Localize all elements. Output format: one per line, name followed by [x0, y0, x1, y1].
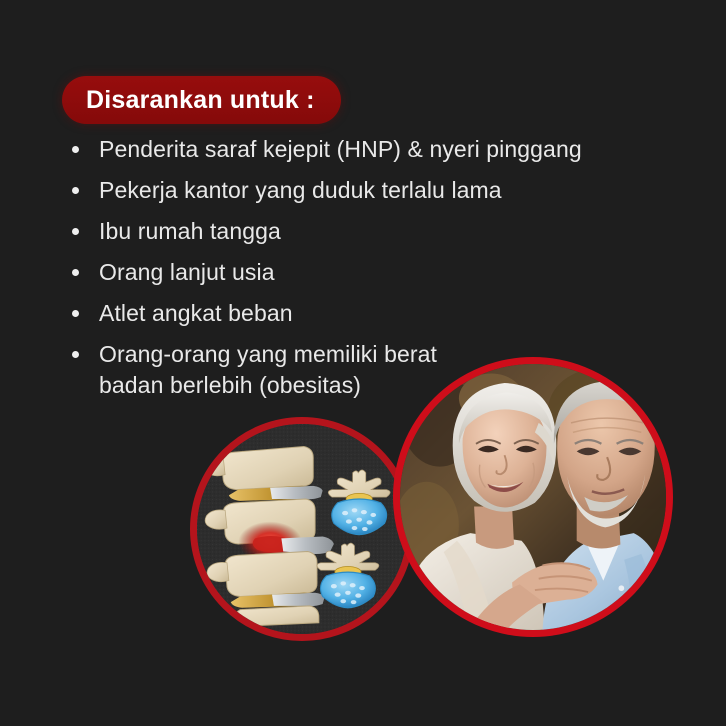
- bullet-dot-icon: [72, 310, 79, 317]
- bullet-dot-icon: [72, 269, 79, 276]
- heading-label: Disarankan untuk :: [86, 88, 315, 113]
- spine-illustration-inner: [197, 424, 407, 634]
- list-item-label: Penderita saraf kejepit (HNP) & nyeri pi…: [99, 134, 582, 165]
- list-item: Atlet angkat beban: [72, 298, 672, 329]
- promo-slide: Disarankan untuk : Penderita saraf kejep…: [0, 0, 726, 726]
- list-item-label: Orang lanjut usia: [99, 257, 275, 288]
- list-item-label: Orang-orang yang memiliki berat badan be…: [99, 339, 437, 401]
- herniated-disc-spine-illustration: [190, 417, 414, 641]
- couple-photo-inner: [400, 364, 666, 630]
- elderly-couple-photo: [393, 357, 673, 637]
- heading-pill: Disarankan untuk :: [62, 76, 341, 124]
- list-item-label: Pekerja kantor yang duduk terlalu lama: [99, 175, 502, 206]
- bullet-dot-icon: [72, 351, 79, 358]
- bullet-dot-icon: [72, 228, 79, 235]
- list-item: Ibu rumah tangga: [72, 216, 672, 247]
- bullet-dot-icon: [72, 187, 79, 194]
- list-item: Orang lanjut usia: [72, 257, 672, 288]
- list-item: Pekerja kantor yang duduk terlalu lama: [72, 175, 672, 206]
- list-item-label: Ibu rumah tangga: [99, 216, 281, 247]
- elderly-couple-graphic: [400, 364, 666, 630]
- list-item: Penderita saraf kejepit (HNP) & nyeri pi…: [72, 134, 672, 165]
- bullet-dot-icon: [72, 146, 79, 153]
- spine-illustration-graphic: [197, 424, 407, 634]
- list-item-label: Atlet angkat beban: [99, 298, 293, 329]
